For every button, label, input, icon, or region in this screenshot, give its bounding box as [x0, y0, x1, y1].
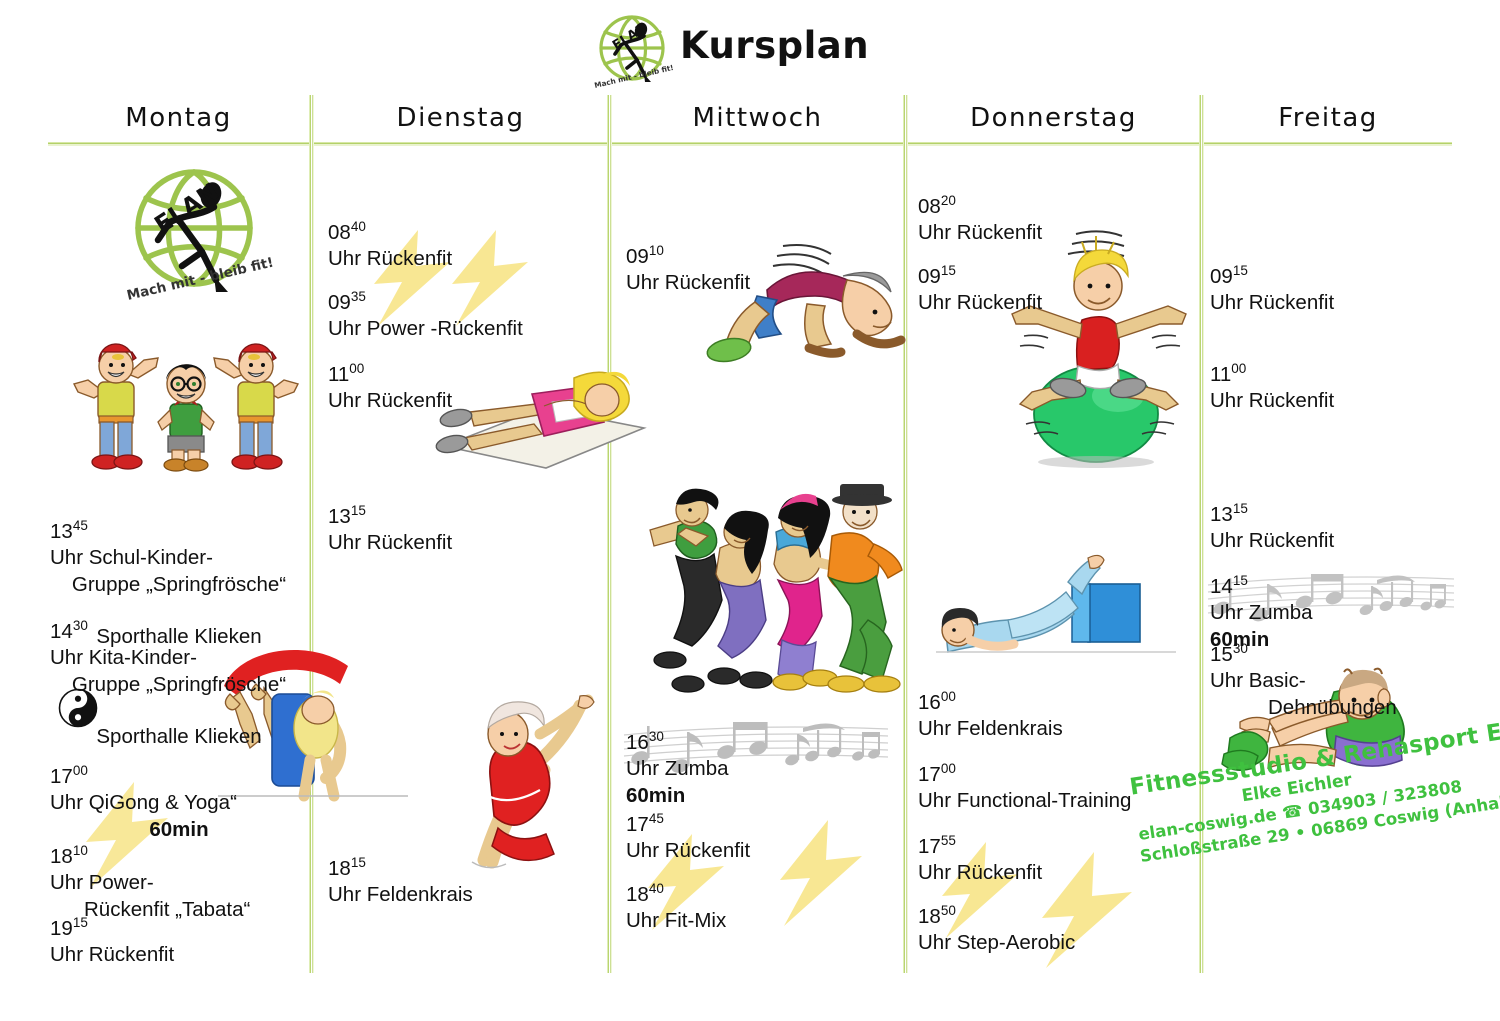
freitag-entry-2-time: 1100 [1210, 363, 1246, 386]
elan-logo-header: ELAN Mach mit - bleib fit! [585, 10, 680, 100]
page-title: Kursplan [680, 24, 869, 67]
mittwoch-entry-3: 1745 Uhr Rückenfit [626, 786, 901, 865]
dienstag-entry-5-line1: Uhr Feldenkrais [328, 883, 473, 906]
column-mittwoch: 0910 Uhr Rückenfit [612, 150, 903, 970]
freitag-entry-1-line1: Uhr Rückenfit [1210, 291, 1334, 314]
freitag-entry-1-time: 0915 [1210, 265, 1248, 288]
kids-group-illustration [66, 332, 306, 472]
header-divider [48, 142, 1452, 146]
dienstag-entry-1-time: 0840 [328, 221, 366, 244]
column-montag: ELAN Mach mit - bleib fit! [48, 150, 309, 970]
freitag-entry-3-time: 1315 [1210, 503, 1248, 526]
mittwoch-entry-4-line1: Uhr Fit-Mix [626, 909, 726, 932]
freitag-entry-4-time: 1415 [1210, 575, 1248, 598]
column-dienstag: 0840 Uhr Rückenfit 0935 Uhr Power -Rücke… [314, 150, 607, 970]
donnerstag-entry-4-time: 1700 [918, 763, 956, 786]
freitag-entry-2: 1100 Uhr Rückenfit [1210, 336, 1464, 415]
feldenkrais-illustration [936, 548, 1176, 668]
donnerstag-entry-2-line1: Uhr Rückenfit [918, 291, 1042, 314]
freitag-entry-2-line1: Uhr Rückenfit [1210, 389, 1334, 412]
mittwoch-entry-1: 0910 Uhr Rückenfit [626, 218, 901, 297]
mittwoch-entry-2-time: 1630 [626, 731, 664, 754]
montag-entry-1-line1: Uhr Schul-Kinder- [50, 546, 213, 569]
dienstag-entry-4-line1: Uhr Rückenfit [328, 531, 452, 554]
dienstag-entry-5: 1815 Uhr Feldenkrais [328, 830, 603, 909]
mittwoch-entry-4: 1840 Uhr Fit-Mix [626, 856, 901, 935]
day-header-freitag: Freitag [1204, 103, 1452, 141]
dienstag-entry-4-time: 1315 [328, 505, 366, 528]
freitag-entry-5-line2: Dehnübungen [1210, 695, 1464, 721]
donnerstag-entry-1: 0820 Uhr Rückenfit [918, 168, 1198, 247]
kursplan-page: ELAN Mach mit - bleib fit! Kursplan Mont… [0, 0, 1500, 1021]
day-header-mittwoch: Mittwoch [612, 103, 903, 141]
freitag-entry-1: 0915 Uhr Rückenfit [1210, 238, 1464, 317]
dienstag-entry-3: 1100 Uhr Rückenfit [328, 336, 603, 415]
montag-entry-1-time: 1345 [50, 520, 88, 543]
donnerstag-entry-5-time: 1755 [918, 835, 956, 858]
donnerstag-entry-6-line1: Uhr Step-Aerobic [918, 931, 1075, 954]
montag-entry-2-line1: Uhr Kita-Kinder- [50, 646, 197, 669]
mittwoch-entry-4-time: 1840 [626, 883, 664, 906]
dienstag-entry-1: 0840 Uhr Rückenfit [328, 194, 603, 273]
donnerstag-entry-3: 1600 Uhr Feldenkrais [918, 664, 1198, 743]
montag-entry-5: 1915 Uhr Rückenfit [50, 890, 308, 969]
freitag-entry-5-time: 1530 [1210, 643, 1248, 666]
montag-entry-3-line1: Uhr QiGong & Yoga“ [50, 791, 237, 814]
dienstag-entry-5-time: 1815 [328, 857, 366, 880]
montag-entry-4-time: 1810 [50, 845, 88, 868]
donnerstag-entry-3-time: 1600 [918, 691, 956, 714]
donnerstag-entry-2: 0915 Uhr Rückenfit [918, 238, 1198, 317]
montag-entry-2-line2: Gruppe „Springfrösche“ [50, 672, 308, 698]
montag-entry-2-time: 1430 [50, 620, 88, 643]
freitag-entry-3: 1315 Uhr Rückenfit [1210, 476, 1464, 555]
mittwoch-entry-1-line1: Uhr Rückenfit [626, 271, 750, 294]
mittwoch-entry-3-time: 1745 [626, 813, 664, 836]
dienstag-entry-3-line1: Uhr Rückenfit [328, 389, 452, 412]
zumba-dancers-illustration [620, 470, 910, 700]
freitag-entry-5-line1: Uhr Basic- [1210, 669, 1306, 692]
dienstag-entry-2: 0935 Uhr Power -Rückenfit [328, 264, 603, 343]
dienstag-entry-2-time: 0935 [328, 291, 366, 314]
day-header-dienstag: Dienstag [314, 103, 607, 141]
montag-entry-5-line1: Uhr Rückenfit [50, 943, 174, 966]
donnerstag-entry-1-time: 0820 [918, 195, 956, 218]
day-header-donnerstag: Donnerstag [908, 103, 1199, 141]
montag-entry-5-time: 1915 [50, 917, 88, 940]
dienstag-entry-3-time: 1100 [328, 363, 364, 386]
dienstag-entry-4: 1315 Uhr Rückenfit [328, 478, 603, 557]
mittwoch-entry-1-time: 0910 [626, 245, 664, 268]
day-header-montag: Montag [48, 103, 309, 141]
elan-logo-montag: ELAN Mach mit - bleib fit! [106, 160, 281, 320]
montag-entry-3-time: 1700 [50, 765, 88, 788]
freitag-entry-5: 1530 Uhr Basic- Dehnübungen [1210, 616, 1464, 747]
donnerstag-entry-6-time: 1850 [918, 905, 956, 928]
mittwoch-entry-2-line1: Uhr Zumba [626, 757, 729, 780]
donnerstag-entry-2-time: 0915 [918, 265, 956, 288]
